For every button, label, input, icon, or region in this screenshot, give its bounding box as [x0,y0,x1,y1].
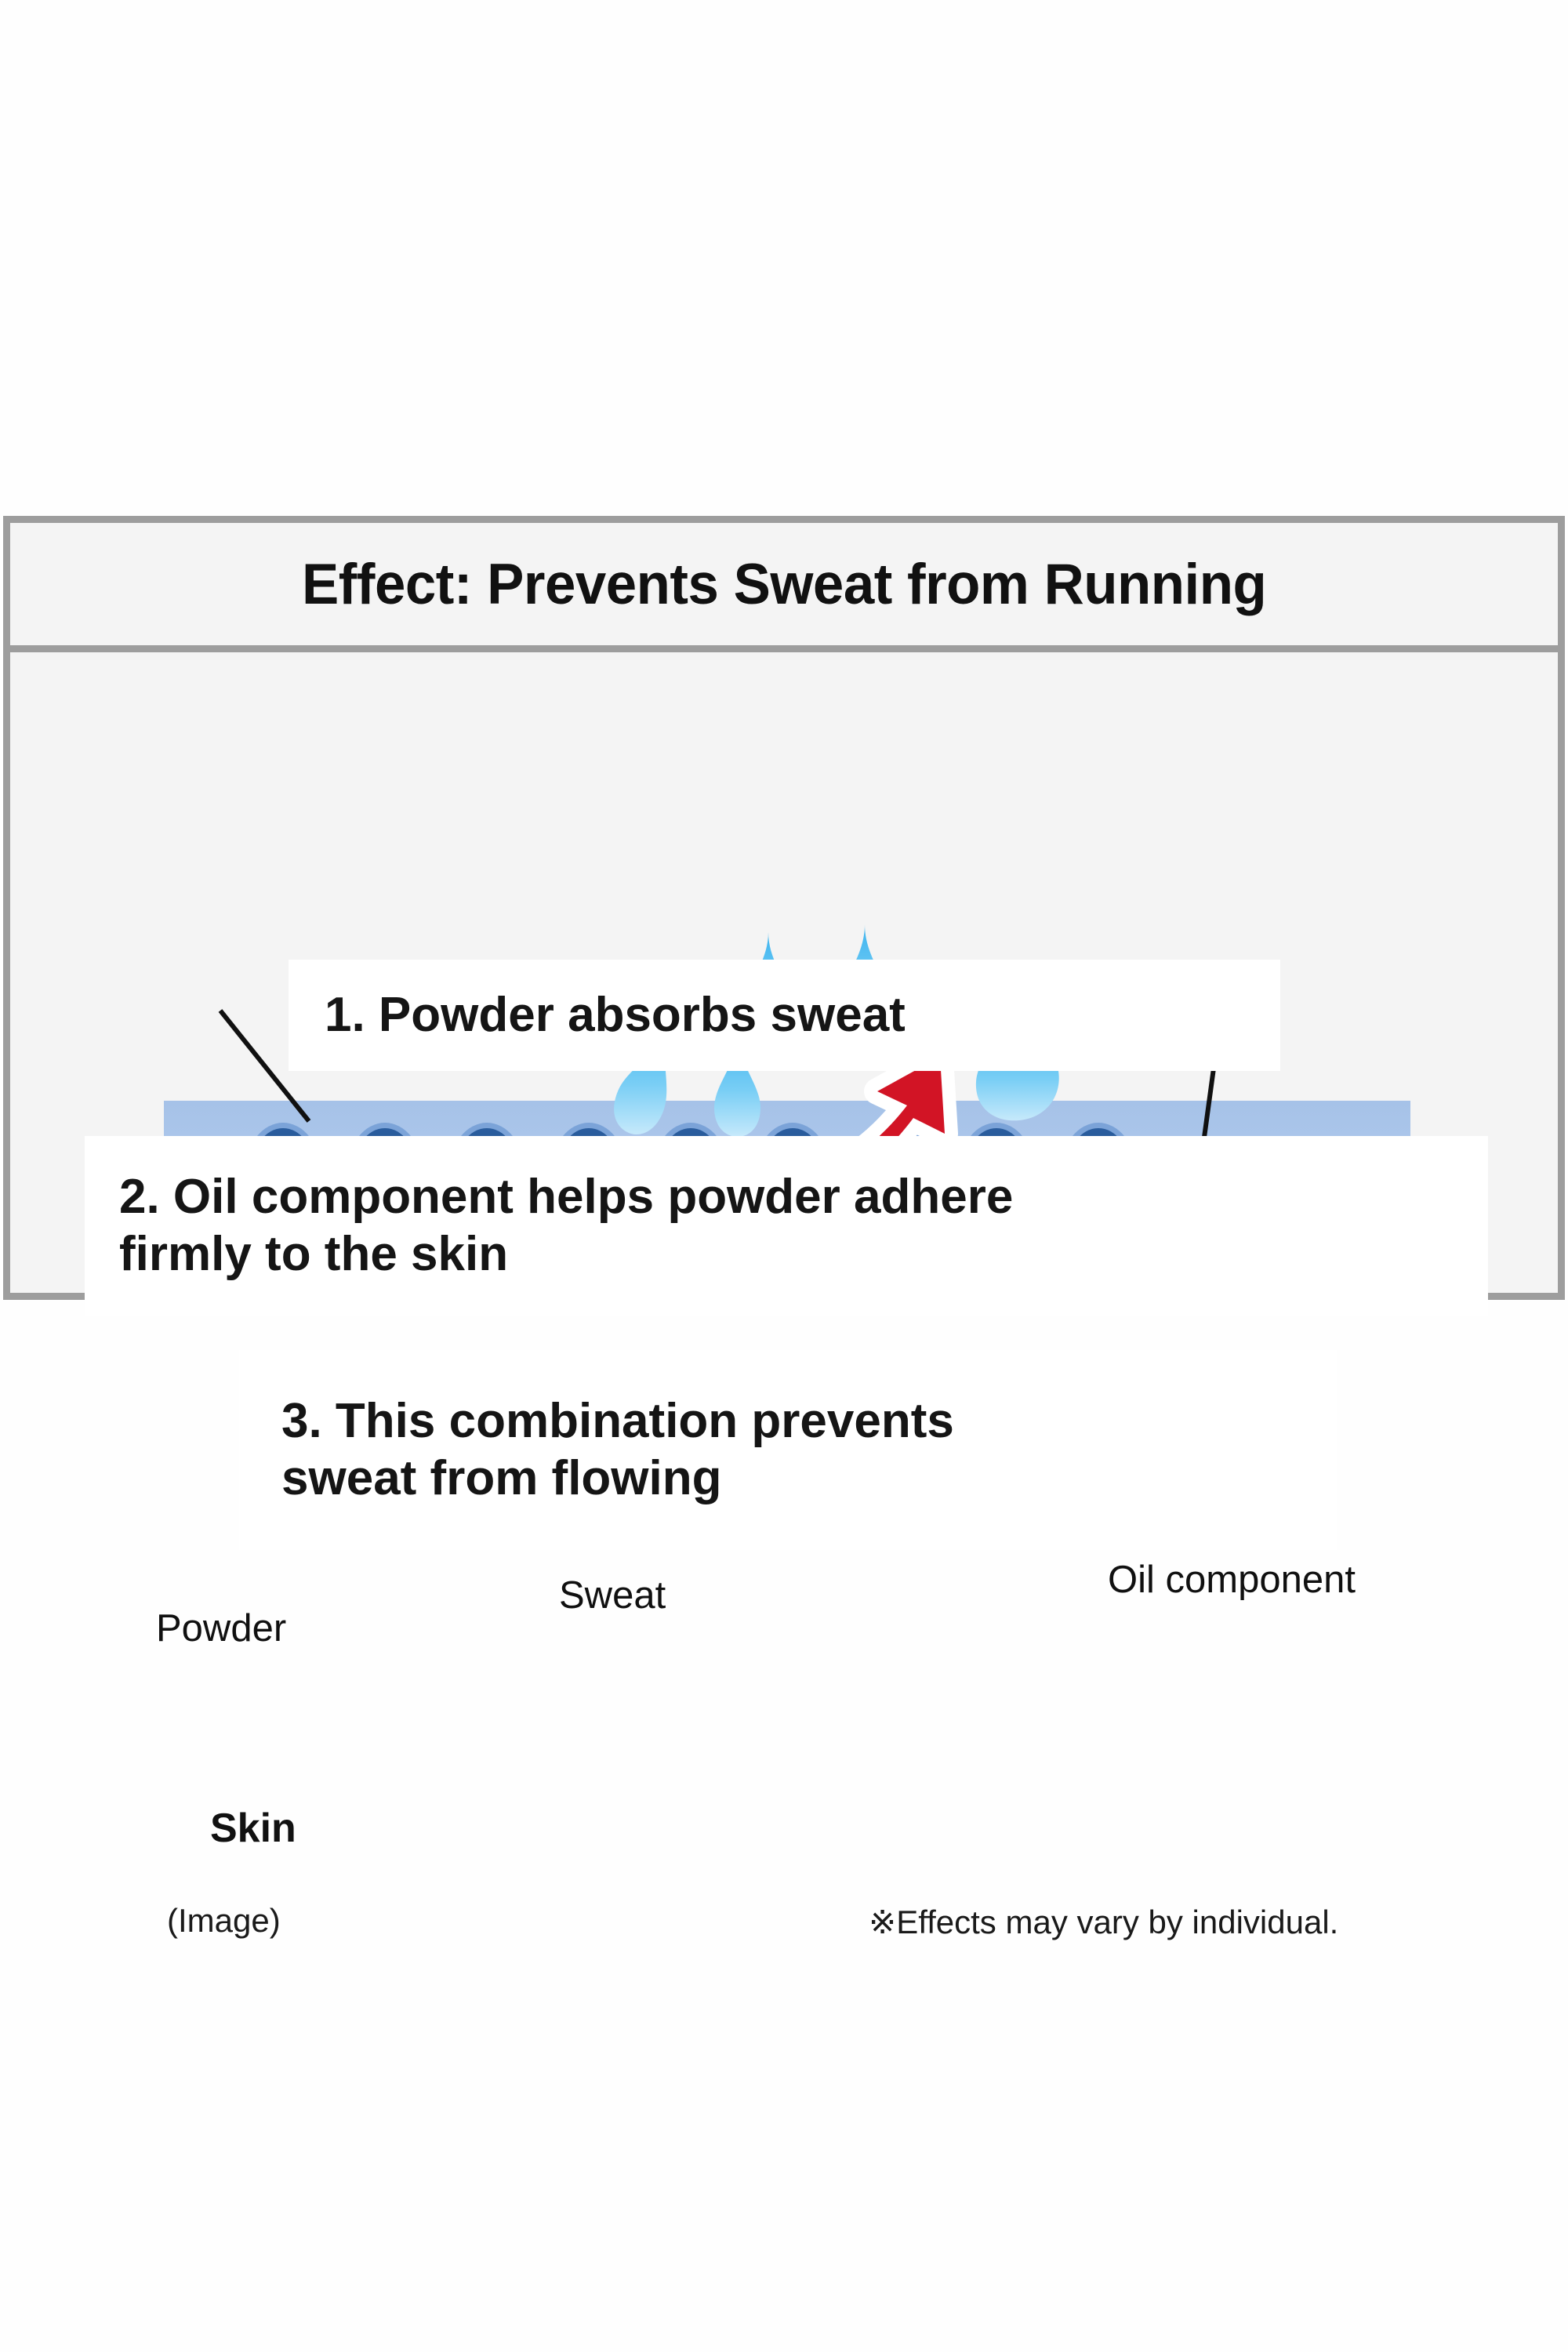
page-title: Effect: Prevents Sweat from Running [302,552,1266,617]
step-2-line-1: 2. Oil component helps powder adhere [119,1169,1488,1226]
image-note: (Image) [167,1902,281,1940]
step-1-box: 1. Powder absorbs sweat [289,960,1280,1071]
card-title-band: Effect: Prevents Sweat from Running [10,523,1558,652]
step-3-line-1: 3. This combination prevents [281,1393,1337,1450]
step-1-line-1: 1. Powder absorbs sweat [325,987,1280,1044]
step-3-box: 3. This combination prevents sweat from … [239,1350,1337,1550]
step-2-box: 2. Oil component helps powder adhere fir… [85,1136,1488,1316]
skin-label: Skin [210,1805,296,1852]
card-body: 1. Powder absorbs sweat 2. Oil component… [10,652,1558,1293]
powder-label: Powder [156,1606,286,1650]
oil-component-label: Oil component [1108,1558,1356,1602]
page-root: Effect: Prevents Sweat from Running [0,0,1568,2352]
step-3-line-2: sweat from flowing [281,1450,1337,1508]
effect-card: Effect: Prevents Sweat from Running [3,516,1565,1300]
step-2-line-2: firmly to the skin [119,1226,1488,1283]
sweat-label: Sweat [559,1573,666,1617]
effects-disclaimer: ※Effects may vary by individual. [869,1903,1338,1941]
